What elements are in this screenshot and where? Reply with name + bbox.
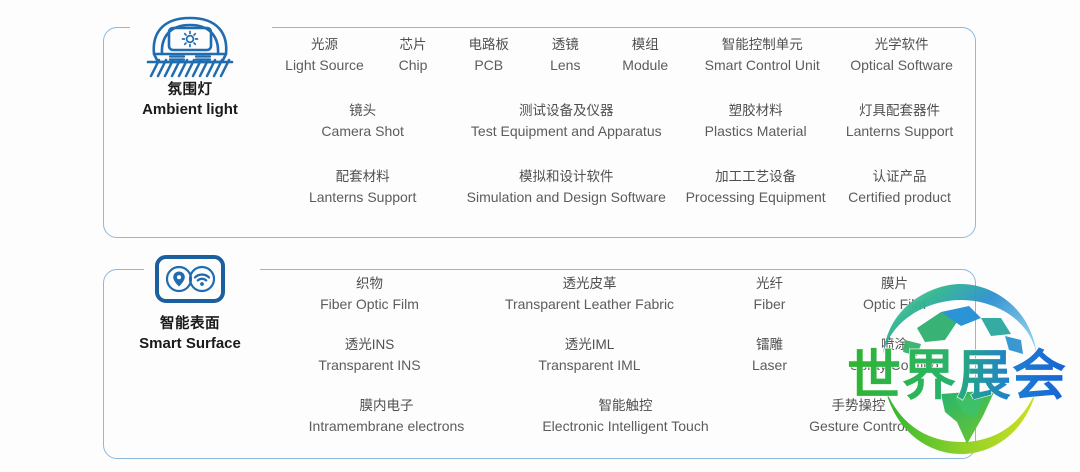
- item-cell[interactable]: 膜内电子 Intramembrane electrons: [275, 395, 499, 437]
- item-row: 织物 Fiber Optic Film 透光皮革 Transparent Lea…: [272, 273, 967, 334]
- item-label-cn: 加工工艺设备: [685, 166, 826, 187]
- item-cell[interactable]: 配套材料 Lanterns Support: [272, 166, 453, 208]
- item-label-en: Laser: [721, 355, 819, 376]
- item-cell[interactable]: 模拟和设计软件 Simulation and Design Software: [453, 166, 679, 208]
- item-label-cn: 光学软件: [842, 34, 961, 55]
- section-badge-smart-surface: 智能表面 Smart Surface: [110, 252, 270, 354]
- item-row: 透光INS Transparent INS 透光IML Transparent …: [272, 334, 967, 395]
- item-label-en: Plastics Material: [685, 121, 826, 142]
- item-cell[interactable]: 加工工艺设备 Processing Equipment: [679, 166, 832, 208]
- item-label-en: Simulation and Design Software: [459, 187, 673, 208]
- item-label-cn: 认证产品: [838, 166, 961, 187]
- item-label-en: Lanterns Support: [278, 187, 447, 208]
- item-label-en: Certified product: [838, 187, 961, 208]
- item-cell[interactable]: 认证产品 Certified product: [832, 166, 967, 208]
- item-label-cn: 电路板: [455, 34, 522, 55]
- item-label-en: Gesture Control: [759, 416, 959, 437]
- item-label-en: Lens: [534, 55, 596, 76]
- item-cell[interactable]: 织物 Fiber Optic Film: [275, 273, 465, 315]
- item-cell[interactable]: 膜片 Optic Film: [825, 273, 965, 315]
- item-label-cn: 智能触控: [505, 395, 747, 416]
- item-cell[interactable]: 芯片 Chip: [377, 34, 449, 76]
- item-label-en: Chip: [383, 55, 443, 76]
- item-label-cn: 模拟和设计软件: [459, 166, 673, 187]
- section-title-cn: 氛围灯: [110, 80, 270, 100]
- item-label-cn: 手势操控: [759, 395, 959, 416]
- item-label-cn: 膜内电子: [281, 395, 493, 416]
- item-label-cn: 塑胶材料: [685, 100, 826, 121]
- item-label-en: Test Equipment and Apparatus: [459, 121, 673, 142]
- item-label-en: Transparent Leather Fabric: [471, 294, 709, 315]
- section-title-cn: 智能表面: [110, 314, 270, 334]
- car-dashboard-ambient-light-icon: [110, 8, 270, 80]
- item-label-en: Electronic Intelligent Touch: [505, 416, 747, 437]
- item-label-en: Camera Shot: [278, 121, 447, 142]
- item-label-cn: 灯具配套器件: [838, 100, 961, 121]
- item-label-cn: 模组: [608, 34, 682, 55]
- item-cell[interactable]: 透光皮革 Transparent Leather Fabric: [465, 273, 715, 315]
- item-row: 镜头 Camera Shot 测试设备及仪器 Test Equipment an…: [272, 100, 967, 166]
- item-label-cn: 镭雕: [721, 334, 819, 355]
- item-label-en: Module: [608, 55, 682, 76]
- item-cell[interactable]: 灯具配套器件 Lanterns Support: [832, 100, 967, 142]
- item-cell[interactable]: 塑胶材料 Plastics Material: [679, 100, 832, 142]
- item-label-cn: 织物: [281, 273, 459, 294]
- item-cell[interactable]: 透光IML Transparent IML: [465, 334, 715, 376]
- item-cell[interactable]: 透镜 Lens: [528, 34, 602, 76]
- item-label-cn: 测试设备及仪器: [459, 100, 673, 121]
- item-row: 光源 Light Source 芯片 Chip 电路板 PCB 透镜 Lens …: [272, 34, 967, 100]
- section-badge-ambient-light: 氛围灯 Ambient light: [110, 8, 270, 120]
- smart-surface-sensor-icon: [110, 252, 270, 314]
- item-cell[interactable]: 智能触控 Electronic Intelligent Touch: [499, 395, 753, 437]
- item-cell[interactable]: 光纤 Fiber: [715, 273, 825, 315]
- item-label-cn: 喷涂: [831, 334, 959, 355]
- item-label-en: Transparent IML: [471, 355, 709, 376]
- item-cell[interactable]: 镭雕 Laser: [715, 334, 825, 376]
- item-cell[interactable]: 喷涂 Spray Coating: [825, 334, 965, 376]
- item-cell[interactable]: 智能控制单元 Smart Control Unit: [688, 34, 836, 76]
- item-label-en: Light Source: [278, 55, 371, 76]
- item-label-en: Intramembrane electrons: [281, 416, 493, 437]
- item-label-cn: 透光INS: [281, 334, 459, 355]
- item-label-cn: 芯片: [383, 34, 443, 55]
- item-label-en: Spray Coating: [831, 355, 959, 376]
- section-title-en: Ambient light: [110, 100, 270, 120]
- item-cell[interactable]: 光源 Light Source: [272, 34, 377, 76]
- section-title-en: Smart Surface: [110, 334, 270, 354]
- item-label-en: Optical Software: [842, 55, 961, 76]
- item-label-cn: 智能控制单元: [694, 34, 830, 55]
- item-grid-ambient-light: 光源 Light Source 芯片 Chip 电路板 PCB 透镜 Lens …: [272, 28, 967, 237]
- item-cell[interactable]: 模组 Module: [602, 34, 688, 76]
- item-label-en: Processing Equipment: [685, 187, 826, 208]
- item-label-cn: 配套材料: [278, 166, 447, 187]
- item-cell[interactable]: 手势操控 Gesture Control: [753, 395, 965, 437]
- item-label-cn: 光源: [278, 34, 371, 55]
- item-cell[interactable]: 透光INS Transparent INS: [275, 334, 465, 376]
- item-label-cn: 光纤: [721, 273, 819, 294]
- item-label-cn: 膜片: [831, 273, 959, 294]
- item-row: 配套材料 Lanterns Support 模拟和设计软件 Simulation…: [272, 166, 967, 232]
- item-label-cn: 透光皮革: [471, 273, 709, 294]
- item-row: 膜内电子 Intramembrane electrons 智能触控 Electr…: [272, 395, 967, 456]
- item-label-en: Lanterns Support: [838, 121, 961, 142]
- item-grid-smart-surface: 织物 Fiber Optic Film 透光皮革 Transparent Lea…: [272, 270, 967, 458]
- item-label-en: Fiber Optic Film: [281, 294, 459, 315]
- item-label-cn: 透镜: [534, 34, 596, 55]
- item-cell[interactable]: 镜头 Camera Shot: [272, 100, 453, 142]
- item-label-en: PCB: [455, 55, 522, 76]
- item-cell[interactable]: 电路板 PCB: [449, 34, 528, 76]
- infographic-canvas: 光源 Light Source 芯片 Chip 电路板 PCB 透镜 Lens …: [0, 0, 1080, 472]
- item-label-cn: 镜头: [278, 100, 447, 121]
- item-label-en: Fiber: [721, 294, 819, 315]
- item-cell[interactable]: 测试设备及仪器 Test Equipment and Apparatus: [453, 100, 679, 142]
- item-label-en: Transparent INS: [281, 355, 459, 376]
- item-label-en: Smart Control Unit: [694, 55, 830, 76]
- item-label-en: Optic Film: [831, 294, 959, 315]
- item-label-cn: 透光IML: [471, 334, 709, 355]
- item-cell[interactable]: 光学软件 Optical Software: [836, 34, 967, 76]
